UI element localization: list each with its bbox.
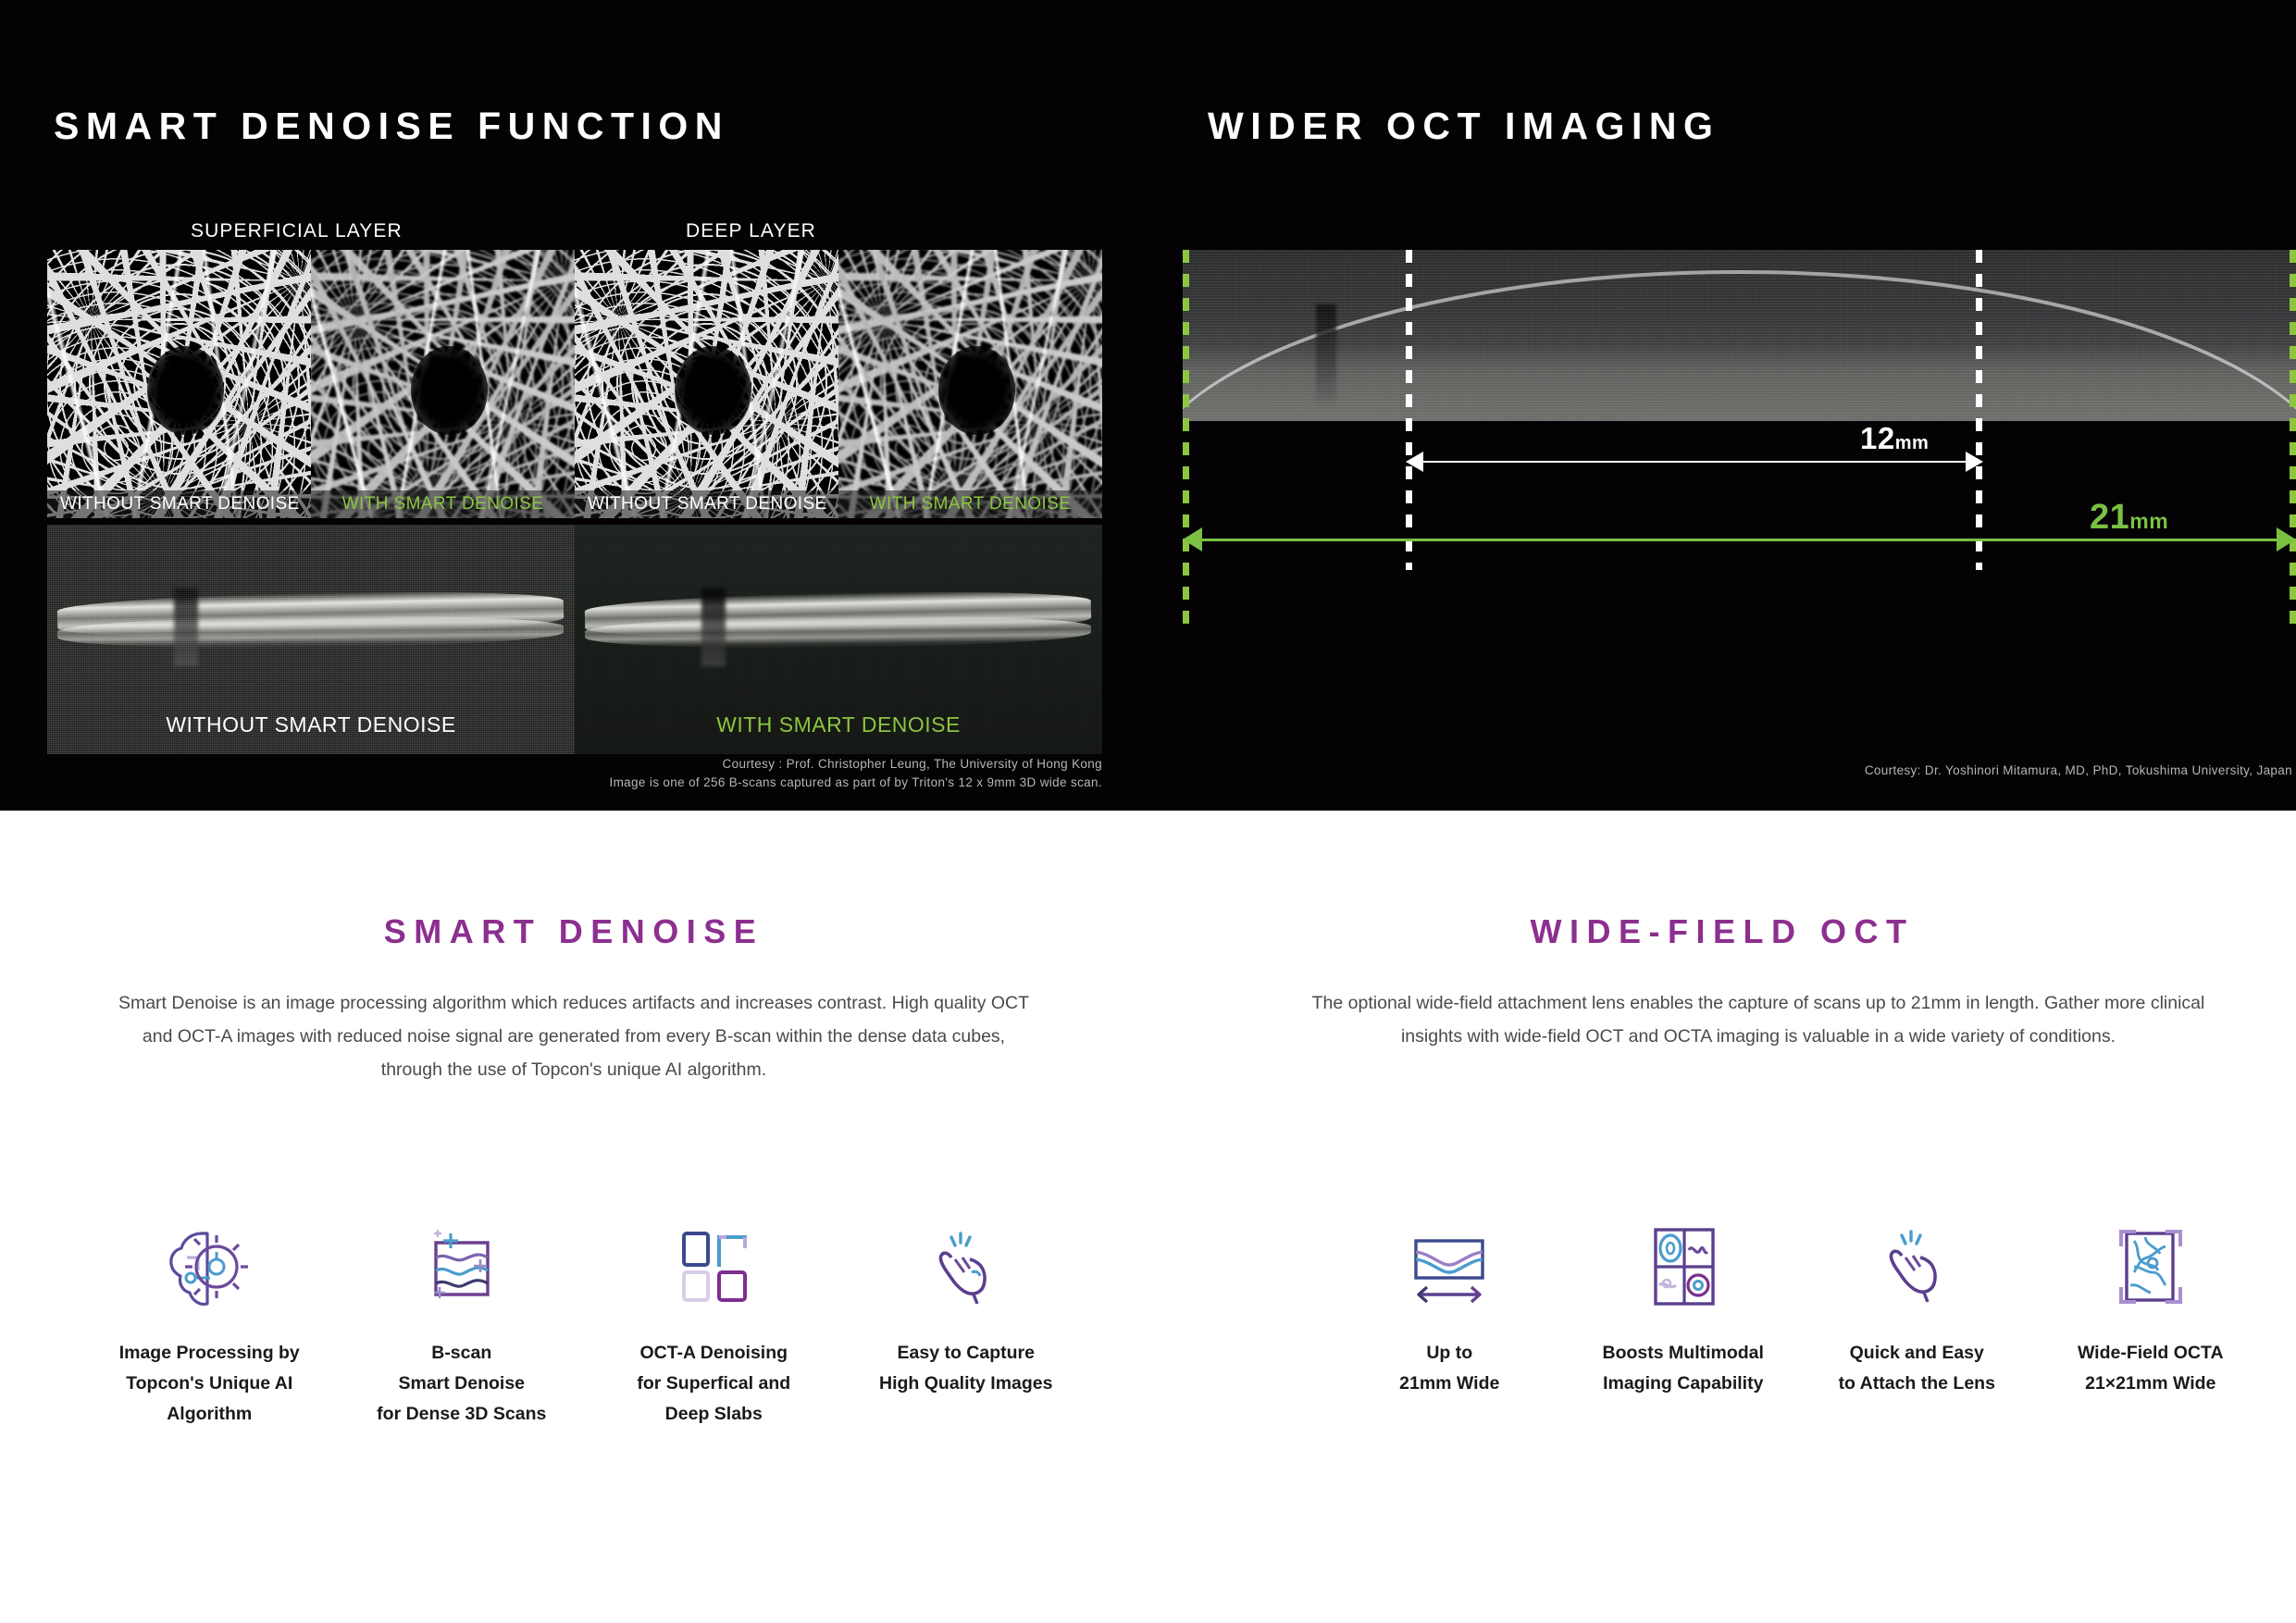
bscan-caption-with: WITH SMART DENOISE [575,712,1102,737]
octa-caption-2: WITHOUT SMART DENOISE [575,494,827,514]
hand-lens-icon [1861,1216,1972,1318]
feature-quick-easy-lens: Quick and Easy to Attach the Lens [1800,1216,2034,1399]
infographic-page: SMART DENOISE FUNCTION WIDER OCT IMAGING… [0,0,2296,1623]
lower-white-section: SMART DENOISE Smart Denoise is an image … [0,811,2296,1623]
section-title-wider-oct: WIDER OCT IMAGING [1208,105,1719,148]
caption-strip: WITHOUT SMART DENOISE [575,490,838,518]
caption-strip: WITH SMART DENOISE [311,490,575,518]
feature-boosts-multimodal: Boosts Multimodal Imaging Capability [1567,1216,1801,1399]
wide-oct-image-group: 12mm 21mm [1183,250,2296,754]
measurement-label-12mm: 12mm [1860,421,1929,456]
column-title-smart-denoise: SMART DENOISE [0,912,1148,951]
courtesy-note-right: Courtesy: Dr. Yoshinori Mitamura, MD, Ph… [1183,763,2296,777]
dark-hero-band: SMART DENOISE FUNCTION WIDER OCT IMAGING… [0,0,2296,811]
octa-superficial-without: WITHOUT SMART DENOISE [47,250,311,518]
measurement-line-12mm [1412,461,1980,463]
widefield-octa-icon [2095,1216,2206,1318]
feature-label: B-scan Smart Denoise for Dense 3D Scans [377,1338,546,1430]
feature-list-smart-denoise: Image Processing by Topcon's Unique AI A… [83,1216,1092,1430]
measurement-value-12: 12 [1860,421,1895,455]
feature-label: Wide-Field OCTA 21×21mm Wide [2078,1338,2224,1399]
arrowhead-right-21mm [2277,527,2296,551]
feature-list-wide-field-oct: Up to 21mm Wide Boos [1333,1216,2267,1399]
feature-up-to-21mm-wide: Up to 21mm Wide [1333,1216,1567,1399]
dashed-marker-21mm-right [2290,250,2296,624]
caption-strip: WITHOUT SMART DENOISE [47,490,311,518]
arrowhead-right-12mm [1966,452,1983,472]
fovea-avascular-zone [147,346,224,435]
feature-label: OCT-A Denoising for Superfical and Deep … [637,1338,790,1430]
section-title-smart-denoise: SMART DENOISE FUNCTION [54,105,729,148]
octa-caption-3: WITH SMART DENOISE [838,494,1102,514]
feature-label: Up to 21mm Wide [1399,1338,1499,1399]
arrowhead-left-21mm [1183,527,1202,551]
feature-label: Quick and Easy to Attach the Lens [1839,1338,1995,1399]
bscan-comparison-row: WITHOUT SMART DENOISE WITH SMART DENOISE [47,525,1102,754]
octa-deep-with: WITH SMART DENOISE [838,250,1102,518]
feature-label: Boosts Multimodal Imaging Capability [1603,1338,1764,1399]
feature-image-processing-ai: Image Processing by Topcon's Unique AI A… [83,1216,336,1430]
deep-layer-label: DEEP LAYER [686,220,816,242]
feature-label: Easy to Capture High Quality Images [879,1338,1052,1399]
bscan-with-denoise: WITH SMART DENOISE [575,525,1102,754]
bscan-without-denoise: WITHOUT SMART DENOISE [47,525,575,754]
dashed-marker-21mm-left [1183,250,1189,624]
feature-label: Image Processing by Topcon's Unique AI A… [119,1338,300,1430]
hand-tap-icon [911,1216,1022,1318]
dashed-marker-12mm-left [1406,250,1412,570]
courtesy-note-left-line2: Image is one of 256 B-scans captured as … [0,775,1102,789]
smart-denoise-image-group: SUPERFICIAL LAYER DEEP LAYER WITHOUT SMA… [47,250,1102,754]
octa-caption-1: WITH SMART DENOISE [311,494,575,514]
measurement-unit-12: mm [1895,433,1930,453]
measurement-unit-21: mm [2129,509,2168,533]
feature-bscan-smart-denoise: B-scan Smart Denoise for Dense 3D Scans [336,1216,589,1430]
speckle-noise-overlay [1183,250,2296,421]
octa-caption-0: WITHOUT SMART DENOISE [47,494,300,514]
four-squares-icon [658,1216,769,1318]
dashed-marker-12mm-right [1976,250,1982,570]
column-body-wide-field-oct: The optional wide-field attachment lens … [1296,986,2221,1053]
arrowhead-left-12mm [1406,452,1423,472]
courtesy-note-left-line1: Courtesy : Prof. Christopher Leung, The … [0,757,1102,771]
column-body-smart-denoise: Smart Denoise is an image processing alg… [111,986,1036,1086]
wide-field-bscan-image [1183,250,2296,421]
bscan-sparkle-icon [406,1216,517,1318]
column-title-wide-field-oct: WIDE-FIELD OCT [1148,912,2296,951]
octa-deep-without: WITHOUT SMART DENOISE [575,250,838,518]
feature-widefield-octa: Wide-Field OCTA 21×21mm Wide [2034,1216,2268,1399]
measurement-line-21mm [1188,539,2291,541]
measurement-label-21mm: 21mm [2090,498,2168,538]
feature-octa-denoising: OCT-A Denoising for Superfical and Deep … [588,1216,840,1430]
caption-strip: WITH SMART DENOISE [838,490,1102,518]
octa-comparison-row: WITHOUT SMART DENOISE WITH SMART DENOISE [47,250,1102,518]
brain-gear-icon [154,1216,265,1318]
superficial-layer-label: SUPERFICIAL LAYER [191,220,403,242]
fovea-avascular-zone [938,346,1015,435]
wide-scan-arrow-icon [1394,1216,1505,1318]
octa-superficial-with: WITH SMART DENOISE [311,250,575,518]
fovea-avascular-zone [411,346,488,435]
multimodal-quad-icon [1628,1216,1739,1318]
bscan-caption-without: WITHOUT SMART DENOISE [47,712,575,737]
feature-easy-capture: Easy to Capture High Quality Images [840,1216,1093,1430]
measurement-value-21: 21 [2090,498,2129,537]
fovea-avascular-zone [675,346,751,435]
